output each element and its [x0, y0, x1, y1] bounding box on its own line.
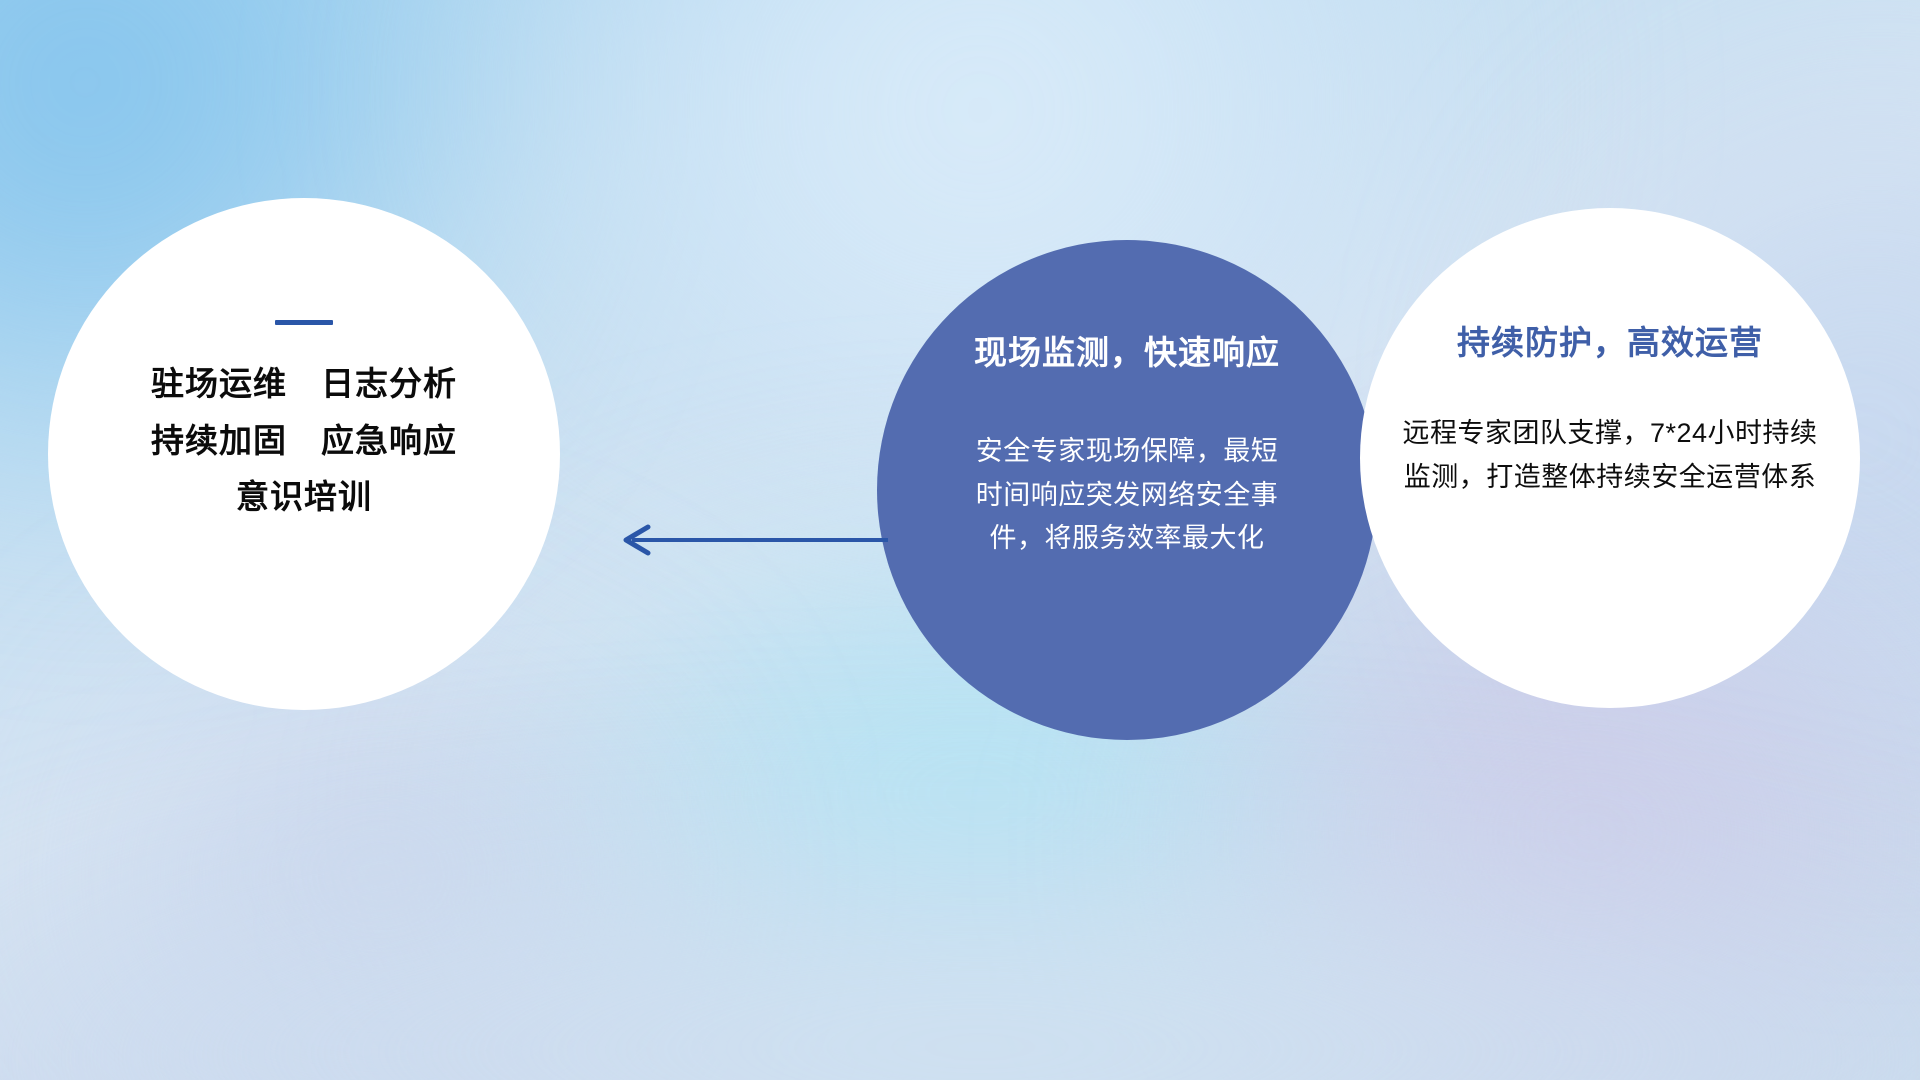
capability-item-chixujiagu: 持续加固	[151, 422, 287, 459]
left-pointing-arrow-icon	[610, 520, 890, 560]
continuous-protection-body: 远程专家团队支撑，7*24小时持续监测，打造整体持续安全运营体系	[1400, 412, 1820, 499]
capability-item-yishipeixun: 意识培训	[236, 478, 372, 515]
capability-item-rizhifenxi: 日志分析	[321, 367, 457, 402]
capability-item-yingjixiangying: 应急响应	[321, 424, 457, 459]
accent-rule-divider	[275, 320, 333, 325]
onsite-monitoring-circle[interactable]: 现场监测，快速响应 安全专家现场保障，最短时间响应突发网络安全事件，将服务效率最…	[877, 240, 1377, 740]
capability-row-3: 意识培训	[236, 480, 372, 515]
capability-circle[interactable]: 驻场运维日志分析 持续加固应急响应 意识培训	[48, 198, 560, 710]
capability-item-zhuchangyunwei: 驻场运维	[151, 365, 287, 402]
capability-row-2: 持续加固应急响应	[151, 424, 457, 459]
onsite-monitoring-title: 现场监测，快速响应	[974, 326, 1280, 374]
capability-row-1: 驻场运维日志分析	[151, 367, 457, 402]
slide-canvas: 驻场运维日志分析 持续加固应急响应 意识培训 现场监测，快速响应 安全专家现场保…	[0, 0, 1920, 1080]
capability-list: 驻场运维日志分析 持续加固应急响应 意识培训	[151, 367, 457, 515]
continuous-protection-title: 持续防护，高效运营	[1457, 316, 1763, 364]
continuous-protection-circle[interactable]: 持续防护，高效运营 远程专家团队支撑，7*24小时持续监测，打造整体持续安全运营…	[1360, 208, 1860, 708]
onsite-monitoring-body: 安全专家现场保障，最短时间响应突发网络安全事件，将服务效率最大化	[972, 430, 1282, 561]
